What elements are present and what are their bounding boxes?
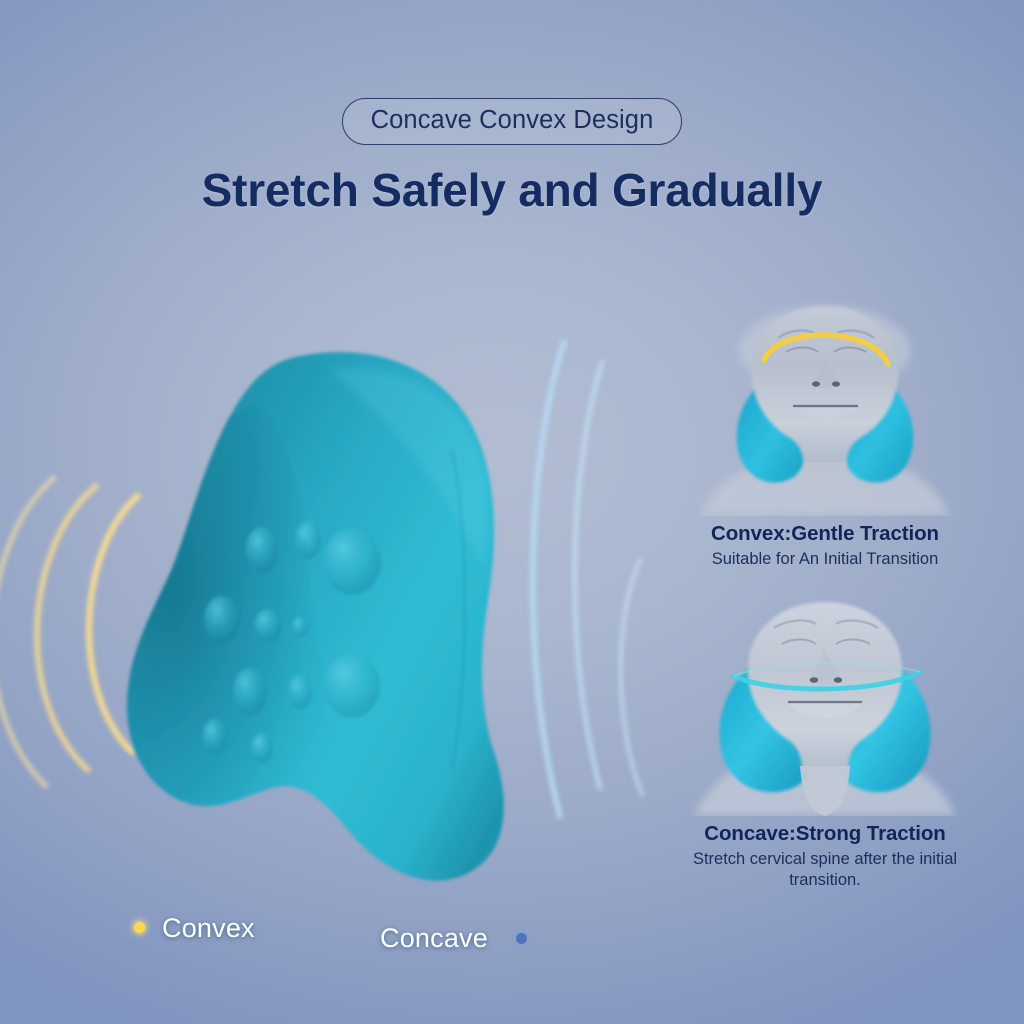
yellow-dot-icon [134,922,145,933]
panel-convex-title: Convex:Gentle Traction [660,522,990,546]
head-with-pillow-convex-side-icon [660,298,990,516]
product-stage: Convex Concave [0,300,680,920]
panel-convex: Convex:Gentle Traction Suitable for An I… [660,298,990,570]
blue-dot-icon [516,933,527,944]
panel-concave-subtitle: Stretch cervical spine after the initial… [660,849,990,891]
infographic-page: Concave Convex Design Stretch Safely and… [0,0,1024,1024]
page-title: Stretch Safely and Gradually [0,163,1024,217]
panel-concave-title: Concave:Strong Traction [660,822,990,846]
panel-concave: Concave:Strong Traction Stretch cervical… [660,598,990,891]
cervical-neck-traction-pillow [127,352,504,881]
product-illustration [0,300,680,920]
panel-convex-subtitle: Suitable for An Initial Transition [660,549,990,570]
design-badge: Concave Convex Design [342,98,683,145]
concave-label: Concave [380,923,488,954]
badge-container: Concave Convex Design [0,98,1024,145]
head-with-pillow-concave-side-icon [660,598,990,816]
blue-wave-arcs-icon [533,342,642,816]
convex-label: Convex [162,913,255,944]
yellow-wave-arcs-icon [0,478,138,786]
